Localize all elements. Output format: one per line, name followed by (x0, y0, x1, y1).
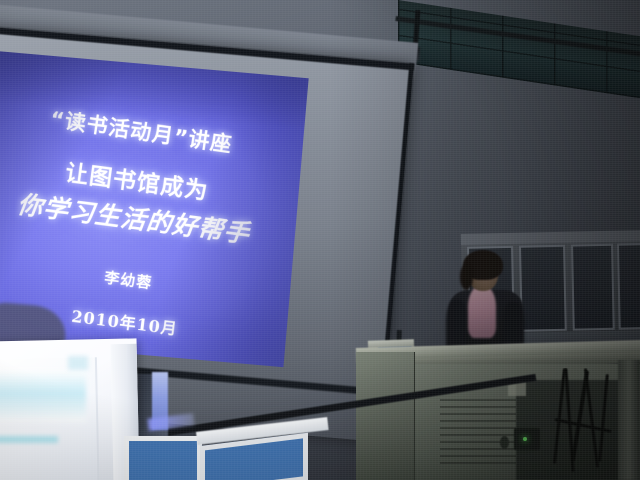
crt-monitor-highlight (68, 356, 88, 370)
lectern-lock-knob[interactable] (500, 436, 509, 449)
bookcase-glass-panel (617, 243, 640, 330)
partition-panel-left (124, 436, 202, 480)
cable (553, 368, 566, 464)
cable (584, 368, 599, 468)
presenter-scarf (468, 286, 496, 338)
crt-monitor-glow (0, 370, 86, 422)
projected-slide: “读书活动月”讲座 让图书馆成为 你学习生活的好帮手 李幼蓉 2010年10月 (0, 50, 309, 367)
power-led-icon (523, 437, 527, 441)
lectern-vent-grille (440, 396, 516, 464)
cable (598, 374, 609, 462)
lectern-side-cabinet (356, 352, 415, 480)
presenter-hair-side (460, 264, 473, 290)
blue-desk-partition (124, 424, 304, 480)
led-housing (514, 428, 540, 450)
slide-text-block: “读书活动月”讲座 让图书馆成为 你学习生活的好帮手 李幼蓉 2010年10月 (0, 50, 309, 367)
bookcase-glass-panel (571, 244, 615, 331)
photo-scene: “读书活动月”讲座 让图书馆成为 你学习生活的好帮手 李幼蓉 2010年10月 (0, 0, 640, 480)
cable-bundle (552, 368, 626, 480)
crt-monitor-reflection (0, 436, 58, 443)
